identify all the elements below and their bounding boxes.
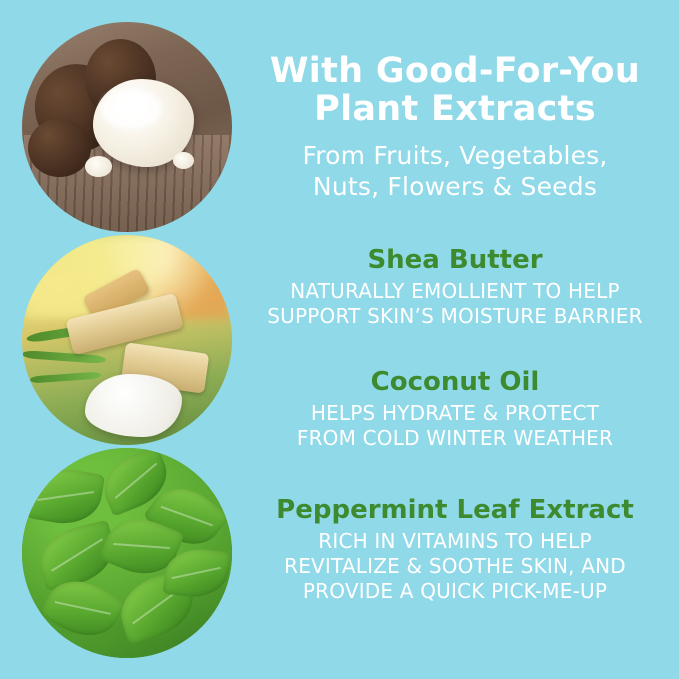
- headline-line-2: Plant Extracts: [245, 90, 665, 128]
- description-line-1: HELPS HYDRATE & PROTECT: [245, 401, 665, 426]
- coconut-oil-image: [22, 235, 232, 445]
- ingredient-title-peppermint-leaf-extract: Peppermint Leaf Extract: [245, 495, 665, 525]
- butter-crumb: [173, 152, 194, 169]
- description-line-3: PROVIDE A QUICK PICK-ME-UP: [245, 579, 665, 604]
- description-line-2: SUPPORT SKIN’S MOISTURE BARRIER: [245, 304, 665, 329]
- ingredient-description-peppermint-leaf-extract: RICH IN VITAMINS TO HELP REVITALIZE & SO…: [245, 529, 665, 604]
- description-line-1: NATURALLY EMOLLIENT TO HELP: [245, 279, 665, 304]
- peppermint-leaf-image: [22, 448, 232, 658]
- ingredient-block-shea-butter: Shea Butter NATURALLY EMOLLIENT TO HELP …: [245, 245, 665, 329]
- white-sugar-pile: [85, 374, 182, 437]
- text-column: With Good-For-You Plant Extracts From Fr…: [245, 0, 665, 679]
- leaf-vein: [50, 538, 102, 571]
- leaf-vein: [161, 506, 214, 526]
- product-ingredient-infographic: With Good-For-You Plant Extracts From Fr…: [0, 0, 679, 679]
- ingredient-title-coconut-oil: Coconut Oil: [245, 367, 665, 397]
- shea-butter-image: [22, 22, 232, 232]
- leaf-vein: [55, 602, 111, 615]
- subheadline: From Fruits, Vegetables, Nuts, Flowers &…: [245, 140, 665, 202]
- description-line-1: RICH IN VITAMINS TO HELP: [245, 529, 665, 554]
- ingredient-block-coconut-oil: Coconut Oil HELPS HYDRATE & PROTECT FROM…: [245, 367, 665, 451]
- headline-line-1: With Good-For-You: [245, 52, 665, 90]
- headline: With Good-For-You Plant Extracts: [245, 52, 665, 128]
- subheadline-line-2: Nuts, Flowers & Seeds: [245, 171, 665, 202]
- leaf-vein: [172, 567, 222, 579]
- description-line-2: FROM COLD WINTER WEATHER: [245, 426, 665, 451]
- ingredient-title-shea-butter: Shea Butter: [245, 245, 665, 275]
- ingredient-description-shea-butter: NATURALLY EMOLLIENT TO HELP SUPPORT SKIN…: [245, 279, 665, 329]
- ingredient-block-peppermint-leaf-extract: Peppermint Leaf Extract RICH IN VITAMINS…: [245, 495, 665, 604]
- ingredient-description-coconut-oil: HELPS HYDRATE & PROTECT FROM COLD WINTER…: [245, 401, 665, 451]
- leaf-vein: [38, 491, 95, 500]
- leaf-vein: [114, 463, 156, 499]
- leaf-vein: [113, 544, 170, 549]
- description-line-2: REVITALIZE & SOOTHE SKIN, AND: [245, 554, 665, 579]
- subheadline-line-1: From Fruits, Vegetables,: [245, 140, 665, 171]
